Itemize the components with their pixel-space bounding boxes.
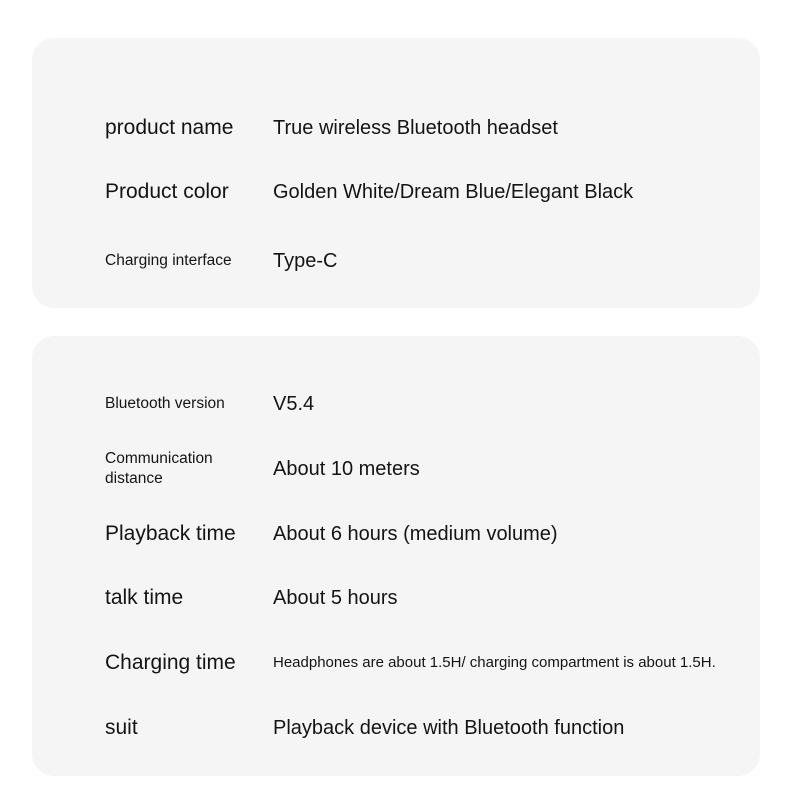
spec-value-communication-distance: About 10 meters	[273, 456, 760, 482]
spec-value-charging-interface: Type-C	[273, 248, 760, 274]
spec-row-talk-time: talk time About 5 hours	[32, 566, 760, 630]
spec-value-product-name: True wireless Bluetooth headset	[273, 115, 760, 141]
spec-label-talk-time: talk time	[105, 584, 273, 611]
spec-card-basic: product name True wireless Bluetooth hea…	[32, 38, 760, 308]
spec-sheet-page: product name True wireless Bluetooth hea…	[0, 0, 800, 800]
spec-row-playback-time: Playback time About 6 hours (medium volu…	[32, 502, 760, 566]
spec-row-product-color: Product color Golden White/Dream Blue/El…	[32, 160, 760, 224]
spec-value-playback-time: About 6 hours (medium volume)	[273, 521, 760, 547]
spec-label-charging-interface: Charging interface	[105, 251, 273, 271]
spec-label-product-name: product name	[105, 114, 273, 141]
spec-label-product-color: Product color	[105, 178, 273, 205]
spec-value-product-color: Golden White/Dream Blue/Elegant Black	[273, 179, 760, 205]
spec-label-communication-distance: Communication distance	[105, 449, 273, 490]
spec-row-communication-distance: Communication distance About 10 meters	[32, 436, 760, 502]
spec-value-charging-time: Headphones are about 1.5H/ charging comp…	[273, 653, 760, 673]
spec-row-charging-time: Charging time Headphones are about 1.5H/…	[32, 630, 760, 696]
spec-label-suit: suit	[105, 714, 273, 741]
spec-label-bluetooth-version: Bluetooth version	[105, 394, 273, 414]
spec-value-talk-time: About 5 hours	[273, 585, 760, 611]
spec-label-playback-time: Playback time	[105, 520, 273, 547]
spec-row-suit: suit Playback device with Bluetooth func…	[32, 696, 760, 760]
spec-row-product-name: product name True wireless Bluetooth hea…	[32, 96, 760, 160]
spec-label-charging-time: Charging time	[105, 649, 273, 676]
spec-value-suit: Playback device with Bluetooth function	[273, 715, 760, 741]
spec-card-performance: Bluetooth version V5.4 Communication dis…	[32, 336, 760, 776]
spec-row-bluetooth-version: Bluetooth version V5.4	[32, 372, 760, 436]
spec-value-bluetooth-version: V5.4	[273, 391, 760, 417]
spec-row-charging-interface: Charging interface Type-C	[32, 224, 760, 298]
